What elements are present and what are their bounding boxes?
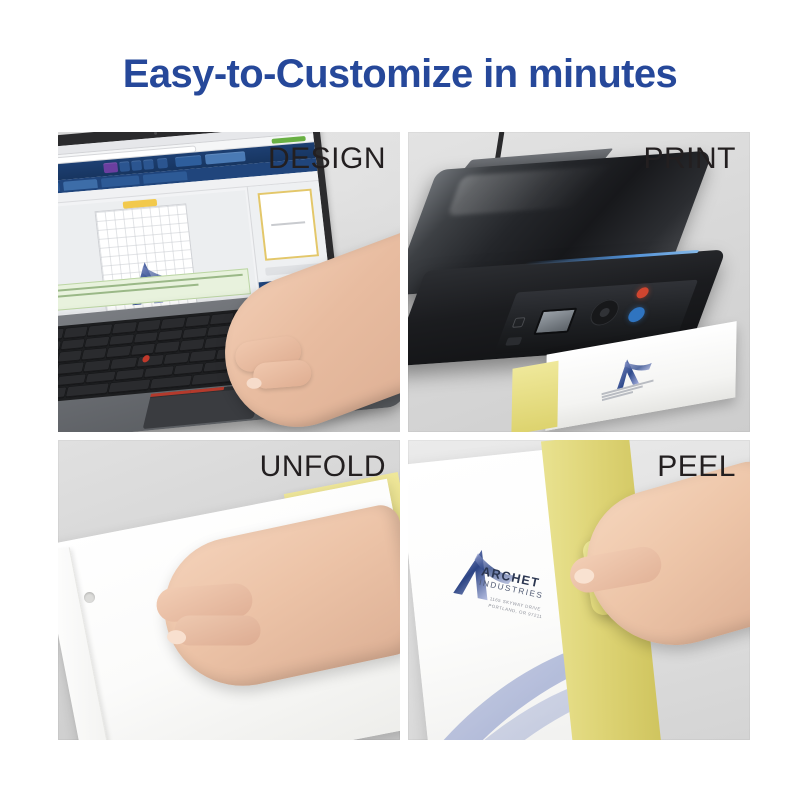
printer-lcd-screen (533, 308, 577, 335)
step-label-peel: PEEL (657, 450, 736, 484)
binder-hole (84, 592, 95, 603)
printer-power-button (635, 287, 650, 299)
step-panel-design: DESIGN (58, 132, 400, 432)
artboard-tab (123, 199, 158, 209)
step-label-print: PRINT (644, 142, 737, 176)
step-panel-print: OVERVIEW PRINT (408, 132, 750, 432)
product-feature-graphic: Easy-to-Customize in minutes (0, 0, 800, 800)
printer-dpad (586, 299, 622, 327)
template-thumbnail (258, 189, 320, 261)
step-panel-unfold: UNFOLD (58, 440, 400, 740)
printed-sheet-liner (511, 361, 558, 432)
steps-grid: DESIGN OVERVIEW (58, 132, 742, 740)
step-label-design: DESIGN (268, 142, 386, 176)
page-title: Easy-to-Customize in minutes (0, 52, 800, 97)
laptop-illustration (58, 132, 400, 432)
step-panel-peel: OVERVIEW ARCHET INDUSTRIES (408, 440, 750, 740)
printer-start-button (626, 307, 647, 323)
design-canvas (58, 190, 257, 315)
printer-stop-button (512, 317, 526, 328)
printer-usb-port (505, 337, 522, 346)
step-label-unfold: UNFOLD (260, 450, 386, 484)
